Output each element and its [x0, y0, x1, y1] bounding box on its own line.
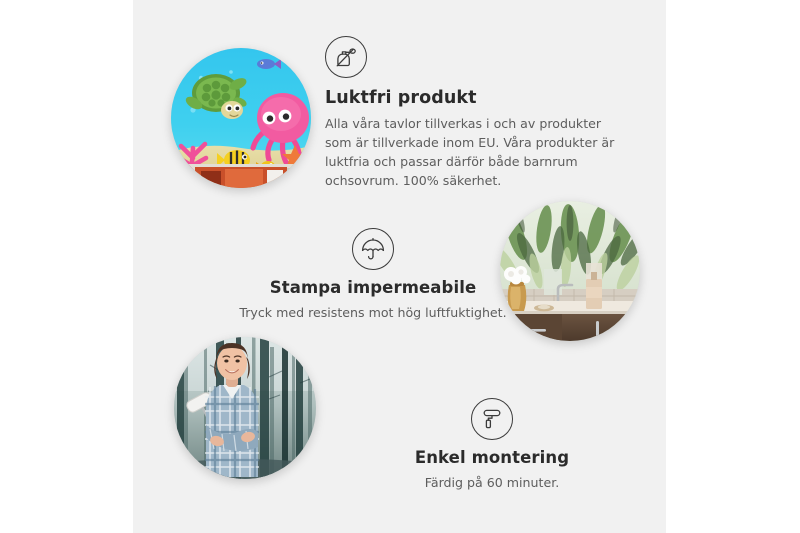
umbrella-icon: [352, 228, 394, 270]
no-fragrance-icon: [325, 36, 367, 78]
feature-description: Tryck med resistens mot hög luftfuktighe…: [213, 303, 533, 322]
product-feature-panel: Luktfri produkt Alla våra tavlor tillver…: [133, 0, 666, 533]
page-canvas: Luktfri produkt Alla våra tavlor tillver…: [0, 0, 800, 533]
feature-odourless: Luktfri produkt Alla våra tavlor tillver…: [325, 36, 625, 190]
feature-title: Luktfri produkt: [325, 88, 625, 110]
paint-roller-icon: [471, 398, 513, 440]
feature-easy-install: Enkel montering Färdig på 60 minuter.: [352, 398, 632, 492]
feature-title: Stampa impermeabile: [213, 278, 533, 299]
feature-description: Alla våra tavlor tillverkas i och av pro…: [325, 114, 617, 191]
photo-woman-with-paint-roller: [174, 337, 316, 479]
feature-waterproof: Stampa impermeabile Tryck med resistens …: [213, 228, 533, 322]
feature-title: Enkel montering: [352, 448, 632, 469]
photo-sea-life-mural: [171, 48, 311, 188]
feature-description: Färdig på 60 minuter.: [352, 473, 632, 492]
